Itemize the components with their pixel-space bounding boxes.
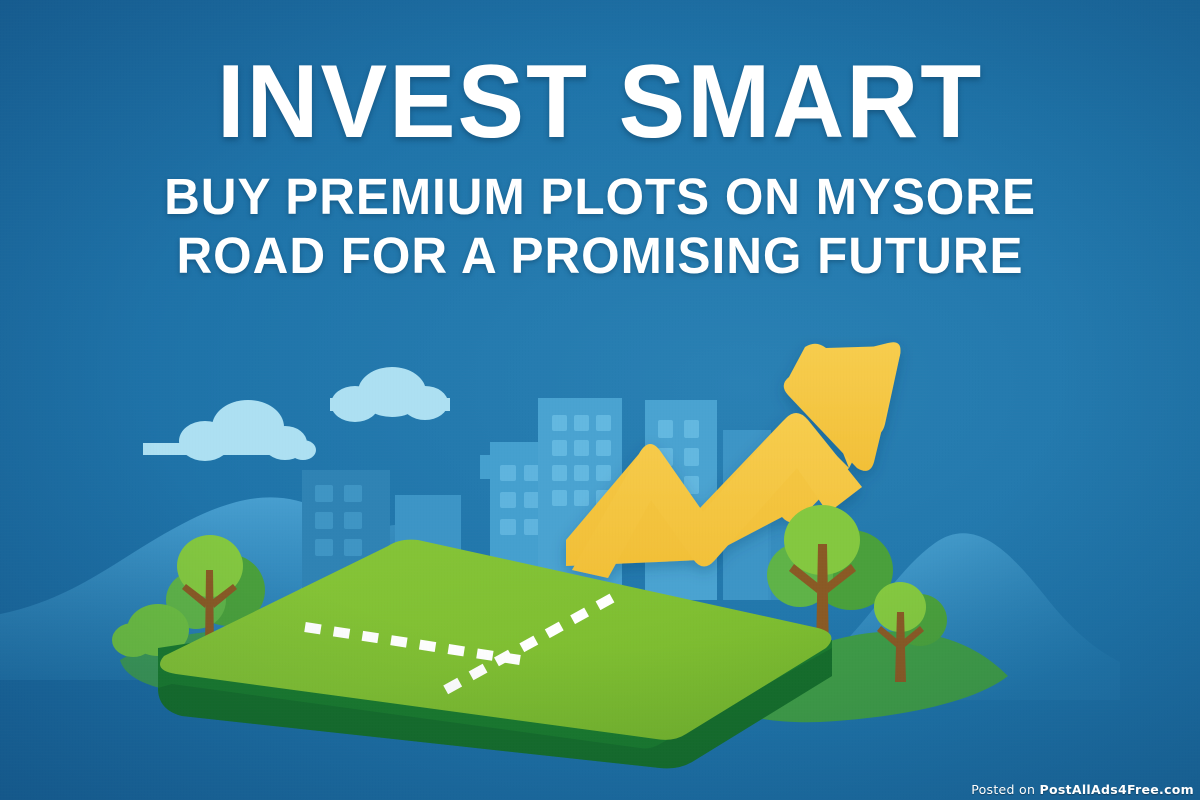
page-title: INVEST SMART [24, 52, 1176, 154]
cloud-left [143, 400, 316, 461]
page-subtitle: BUY PREMIUM PLOTS ON MYSORE ROAD FOR A P… [18, 168, 1182, 285]
watermark-prefix: Posted on [971, 782, 1039, 797]
subtitle-line-1: BUY PREMIUM PLOTS ON MYSORE [18, 168, 1182, 227]
headline-block: INVEST SMART BUY PREMIUM PLOTS ON MYSORE… [0, 52, 1200, 285]
cloud-right [330, 367, 450, 422]
watermark: Posted on PostAllAds4Free.com [971, 782, 1194, 797]
watermark-brand: PostAllAds4Free.com [1040, 782, 1195, 797]
subtitle-line-2: ROAD FOR A PROMISING FUTURE [18, 227, 1182, 286]
clouds [143, 367, 450, 461]
banner-image: INVEST SMART BUY PREMIUM PLOTS ON MYSORE… [0, 0, 1200, 800]
